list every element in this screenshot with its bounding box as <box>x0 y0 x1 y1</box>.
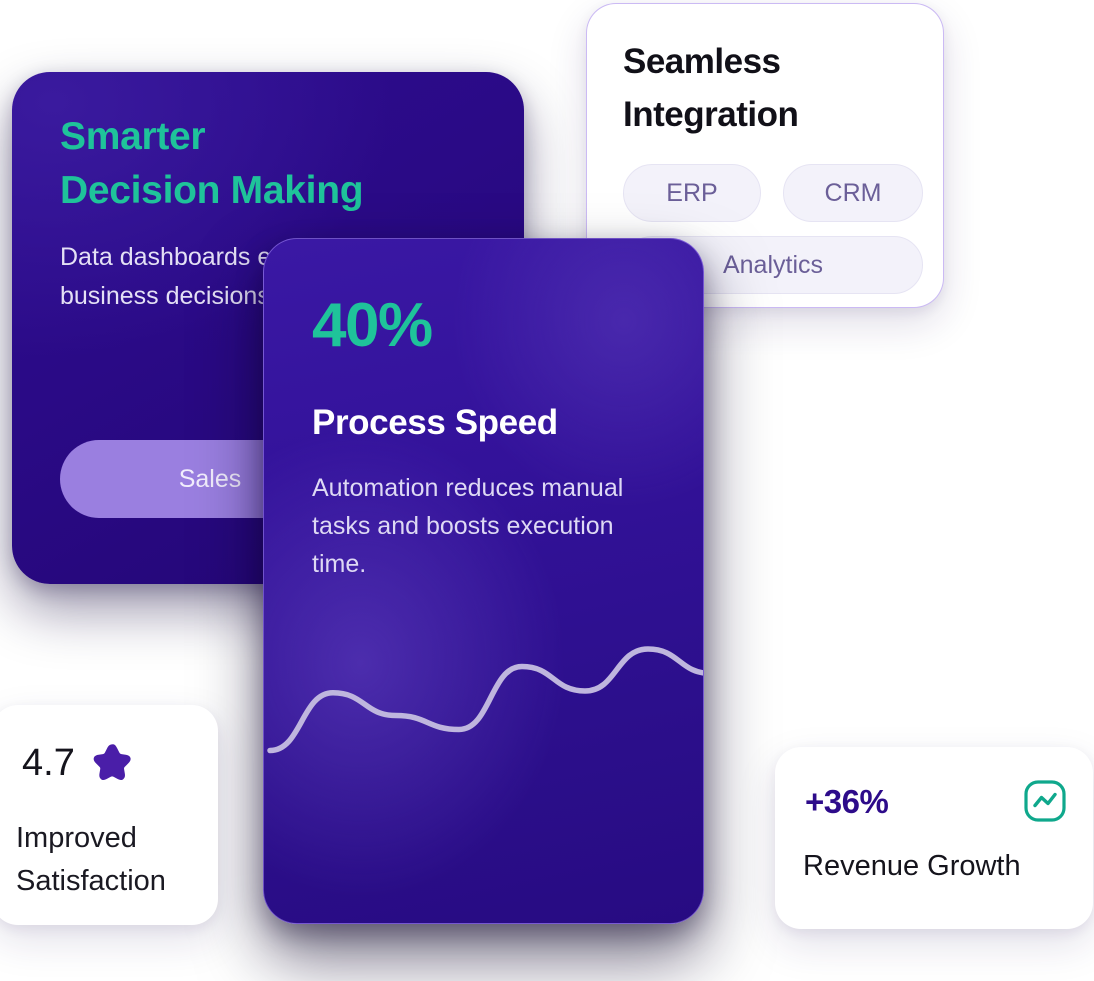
star-icon <box>91 741 135 785</box>
revenue-top-row: +36% <box>805 779 1067 823</box>
rating-score-row: 4.7 <box>22 741 135 785</box>
revenue-label: Revenue Growth <box>803 849 1073 884</box>
integration-tag-analytics-label: Analytics <box>723 251 823 280</box>
rating-label-line-2: Satisfaction <box>16 860 206 903</box>
revenue-metric: +36% <box>805 785 888 818</box>
rating-score: 4.7 <box>22 744 75 782</box>
rating-label: Improved Satisfaction <box>16 817 206 903</box>
integration-tag-crm[interactable]: CRM <box>783 164 923 222</box>
decision-title-line-1: Smarter <box>60 110 480 164</box>
trend-line-icon <box>1023 779 1067 823</box>
composition-stage: Smarter Decision Making Data dashboards … <box>0 0 1094 981</box>
integration-tag-crm-label: CRM <box>825 179 882 208</box>
process-speed-subtitle: Process Speed <box>312 405 558 440</box>
card-improved-satisfaction[interactable]: 4.7 Improved Satisfaction <box>0 705 218 925</box>
integration-tag-erp-label: ERP <box>666 179 717 208</box>
decision-title-line-2: Decision Making <box>60 164 480 218</box>
integration-card-title: Seamless Integration <box>623 36 923 141</box>
decision-card-title: Smarter Decision Making <box>60 110 480 218</box>
process-speed-line-chart <box>264 613 704 793</box>
rating-label-line-1: Improved <box>16 817 206 860</box>
integration-title-line-2: Integration <box>623 89 923 142</box>
integration-tag-row: ERP CRM <box>623 164 923 222</box>
card-process-speed[interactable]: 40% Process Speed Automation reduces man… <box>263 238 704 924</box>
sales-pill-label: Sales <box>179 465 242 494</box>
integration-title-line-1: Seamless <box>623 36 923 89</box>
card-revenue-growth[interactable]: +36% Revenue Growth <box>775 747 1093 929</box>
process-speed-metric: 40% <box>312 295 432 357</box>
integration-tag-erp[interactable]: ERP <box>623 164 761 222</box>
process-speed-description: Automation reduces manual tasks and boos… <box>312 469 657 583</box>
